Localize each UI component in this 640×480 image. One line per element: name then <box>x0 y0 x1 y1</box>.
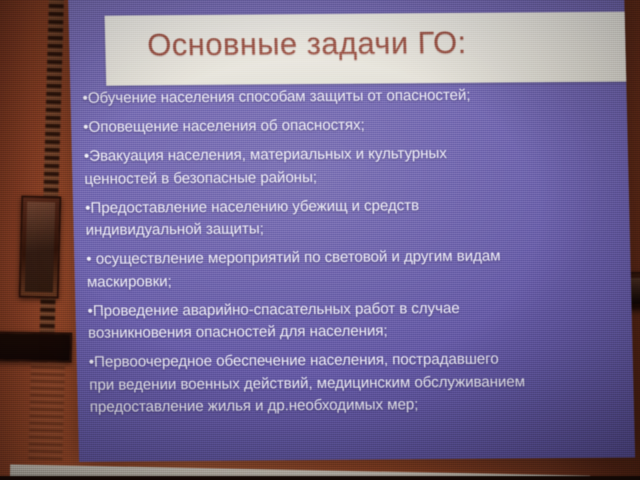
bullet-line: •Обучение населения способам защиты от о… <box>82 84 621 111</box>
slide-body: •Обучение населения способам защиты от о… <box>70 84 634 420</box>
bullet-text: Проведение аварийно-спасательных работ в… <box>93 299 460 319</box>
bullet-line-cont: предоставление жилья и др.необходимых ме… <box>90 393 629 420</box>
wall-dark-band <box>0 331 72 362</box>
screenshot-root: Основные задачи ГО: •Обучение населения … <box>0 0 640 480</box>
projection-screen: Основные задачи ГО: •Обучение населения … <box>68 0 635 462</box>
bullet-text: осуществление мероприятий по световой и … <box>91 248 500 268</box>
bullet-text: Обучение населения способам защиты от оп… <box>88 87 471 107</box>
slide-title: Основные задачи ГО: <box>147 25 467 63</box>
wall-picture-frame-left <box>19 195 62 298</box>
bullet-text: Первоочередное обеспечение населения, по… <box>94 351 499 371</box>
bullet-text: Эвакуация населения, материальных и куль… <box>89 145 447 165</box>
bullet-text: Предоставление населению убежищ и средст… <box>90 197 419 217</box>
bullet-line-cont: возникновения опасностей для населения; <box>88 319 627 346</box>
bullet-line-cont: индивидуальной защиты; <box>85 216 624 243</box>
presentation-slide: Основные задачи ГО: •Обучение населения … <box>68 0 635 462</box>
foreground-dark-band <box>0 476 640 480</box>
bullet-line-cont: маскировки; <box>87 267 626 294</box>
bullet-text: Оповещение населения об опасностях; <box>88 117 365 136</box>
frame-inner <box>25 202 55 293</box>
bullet-line-cont: ценностей в безопасные районы; <box>84 164 623 191</box>
bullet-line: •Оповещение населения об опасностях; <box>83 113 622 140</box>
